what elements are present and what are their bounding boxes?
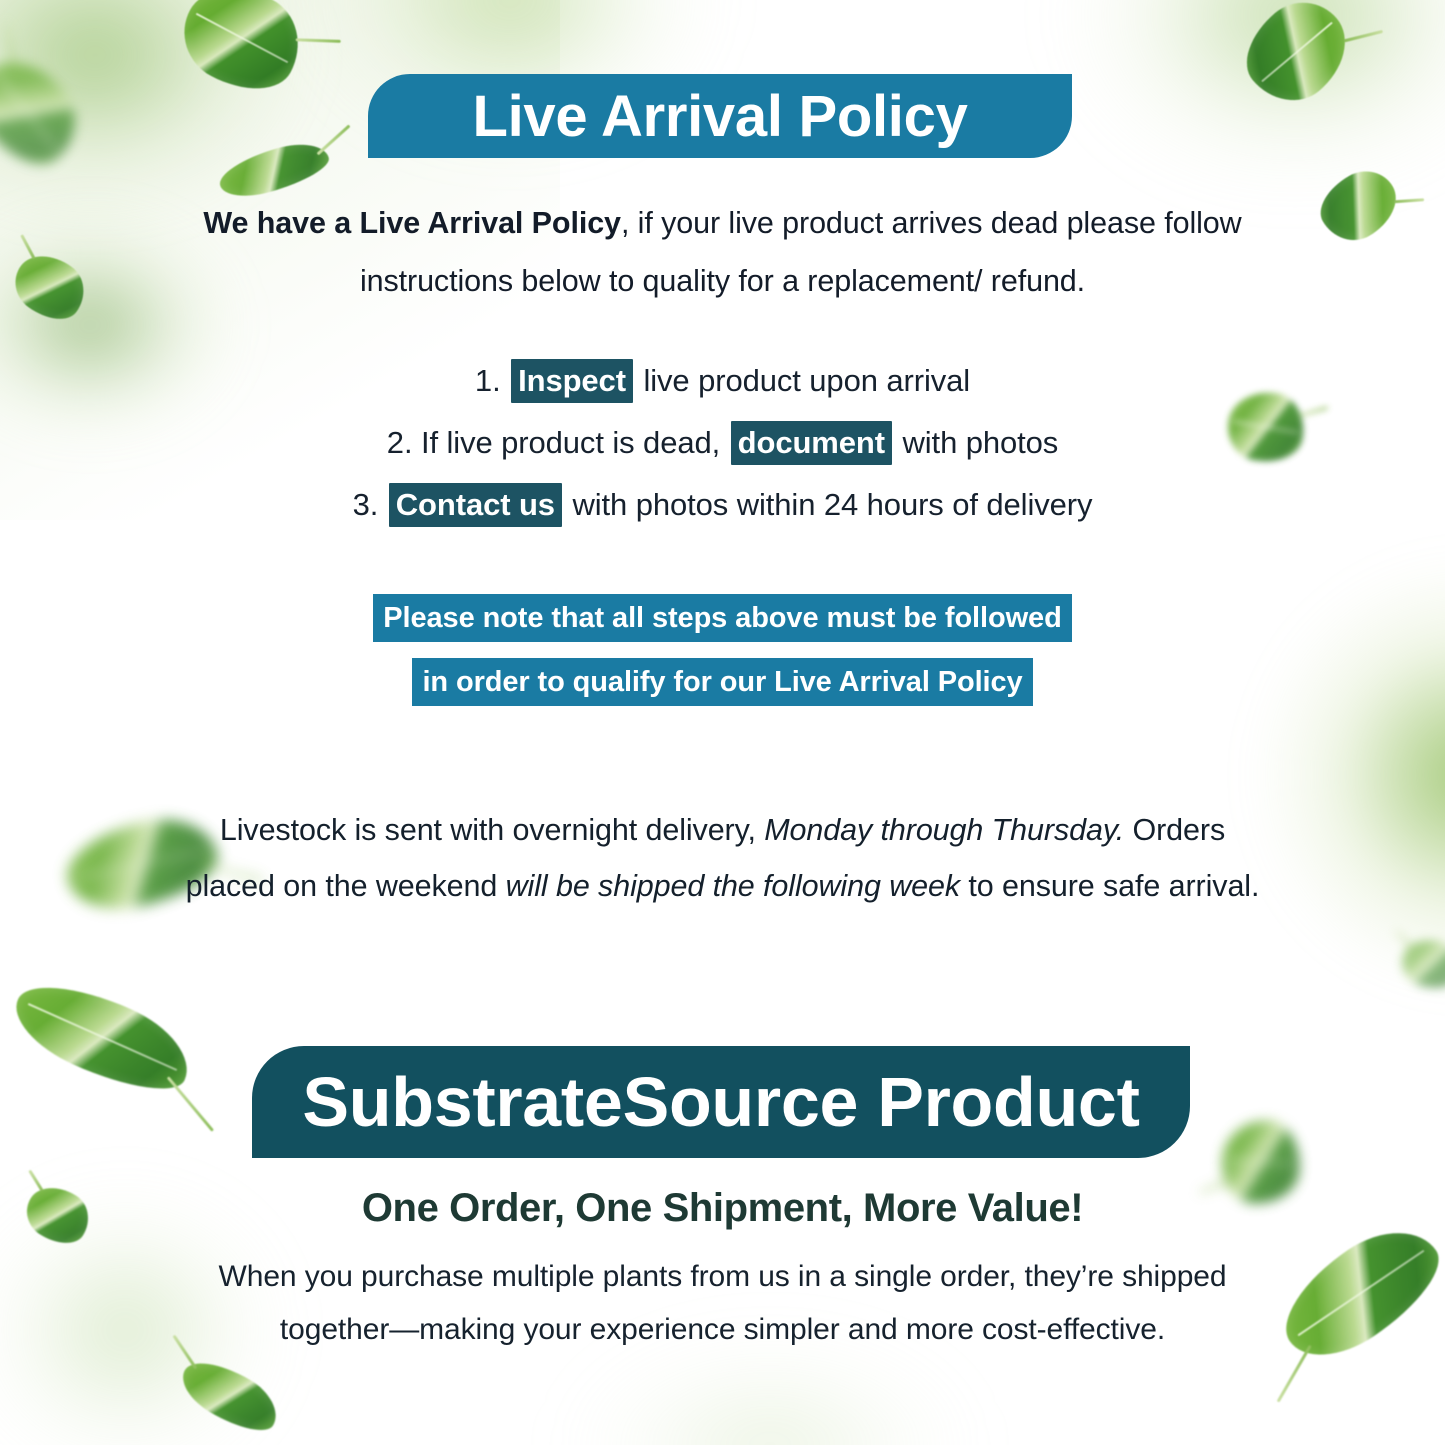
leaf-stem: [28, 1170, 43, 1192]
policy-note-line-2: in order to qualify for our Live Arrival…: [412, 658, 1032, 706]
leaf-stem: [1343, 30, 1383, 43]
leaf-vein: [196, 13, 288, 63]
policy-step-3-after: with photos within 24 hours of delivery: [572, 487, 1092, 522]
product-body-paragraph: When you purchase multiple plants from u…: [160, 1250, 1285, 1356]
leaf-stem: [20, 234, 35, 259]
substratesource-product-banner-title: SubstrateSource Product: [302, 1062, 1139, 1142]
leaf-stem: [1395, 930, 1413, 947]
leaf-left-low-small-icon: [17, 1176, 99, 1254]
leaf-left-long-icon: [3, 966, 202, 1109]
live-arrival-policy-banner: Live Arrival Policy: [368, 74, 1072, 158]
leaf-blade: [1266, 1209, 1445, 1376]
leaf-vein: [1298, 1250, 1424, 1336]
leaf-vein: [227, 156, 322, 184]
leaf-top-right-b-icon: [1310, 160, 1409, 253]
shipping-note-italic-2: will be shipped the following week: [506, 869, 960, 903]
shipping-note-italic-1: Monday through Thursday.: [764, 813, 1124, 847]
policy-step-1-after: live product upon arrival: [643, 363, 970, 398]
policy-note-line-1: Please note that all steps above must be…: [373, 594, 1071, 642]
leaf-top-far-left-icon: [0, 43, 94, 181]
shipping-schedule-note: Livestock is sent with overnight deliver…: [180, 802, 1265, 914]
policy-step-1-highlight: Inspect: [511, 359, 633, 403]
leaf-vein: [28, 1003, 177, 1070]
leaf-stem: [1299, 406, 1328, 417]
leaf-blade: [1310, 160, 1409, 253]
leaf-blade: [173, 1349, 287, 1443]
leaf-stem: [296, 39, 341, 44]
shipping-note-part-1: Livestock is sent with overnight deliver…: [220, 813, 756, 847]
leaf-blade: [4, 242, 96, 331]
leaf-top-right-a-icon: [1229, 0, 1365, 119]
policy-note-line-2-wrap: in order to qualify for our Live Arrival…: [180, 650, 1265, 714]
policy-step-1-number: 1.: [475, 363, 501, 398]
leaf-blade: [17, 1176, 99, 1254]
leaf-blade: [3, 966, 202, 1109]
policy-step-1: 1. Inspect live product upon arrival: [180, 350, 1265, 412]
leaf-vein: [1227, 1159, 1296, 1165]
leaf-vein: [1262, 22, 1333, 82]
leaf-bottom-right-long-icon: [1266, 1209, 1445, 1376]
leaf-blade: [167, 0, 316, 108]
leaf-stem: [4, 23, 16, 65]
substratesource-product-banner: SubstrateSource Product: [252, 1046, 1190, 1158]
leaf-vein: [1407, 956, 1445, 972]
policy-note-box: Please note that all steps above must be…: [180, 586, 1265, 714]
policy-step-3-number: 3.: [353, 487, 379, 522]
leaf-mid-right-tiny-icon: [1396, 932, 1445, 996]
policy-step-2: 2. If live product is dead, document wit…: [180, 412, 1265, 474]
leaf-bottom-left-icon: [173, 1349, 287, 1443]
policy-intro-paragraph: We have a Live Arrival Policy, if your l…: [150, 194, 1295, 310]
policy-steps-list: 1. Inspect live product upon arrival 2. …: [180, 350, 1265, 536]
background-blob-top-left-a: [0, 0, 310, 220]
leaf-left-small-icon: [4, 242, 96, 331]
leaf-blade: [1229, 0, 1365, 119]
leaf-vein: [24, 268, 76, 306]
policy-step-2-after: with photos: [902, 425, 1058, 460]
policy-intro-bold-lead: We have a Live Arrival Policy: [203, 206, 621, 240]
leaf-vein: [0, 73, 57, 150]
policy-note-line-1-wrap: Please note that all steps above must be…: [180, 586, 1265, 650]
policy-infographic-page: Live Arrival Policy We have a Live Arriv…: [0, 0, 1445, 1445]
background-blob-top-right: [1060, 0, 1445, 190]
live-arrival-policy-banner-title: Live Arrival Policy: [472, 83, 967, 150]
leaf-stem: [167, 1076, 214, 1132]
shipping-note-part-3: to ensure safe arrival.: [968, 869, 1259, 903]
policy-step-2-number: 2.: [387, 425, 413, 460]
leaf-blade: [0, 43, 94, 181]
leaf-top-center-icon: [167, 0, 316, 108]
leaf-stem: [316, 124, 350, 155]
product-subheading: One Order, One Shipment, More Value!: [180, 1186, 1265, 1231]
policy-step-2-highlight: document: [731, 421, 892, 465]
background-blob-right: [1255, 560, 1445, 990]
leaf-vein: [190, 1373, 270, 1419]
policy-step-3: 3. Contact us with photos within 24 hour…: [180, 474, 1265, 536]
leaf-vein: [34, 1200, 82, 1231]
leaf-blade: [1396, 932, 1445, 996]
leaf-stem: [1394, 199, 1424, 204]
leaf-vein: [1329, 188, 1389, 223]
policy-step-2-before: If live product is dead,: [421, 425, 720, 460]
policy-step-3-highlight: Contact us: [389, 483, 562, 527]
